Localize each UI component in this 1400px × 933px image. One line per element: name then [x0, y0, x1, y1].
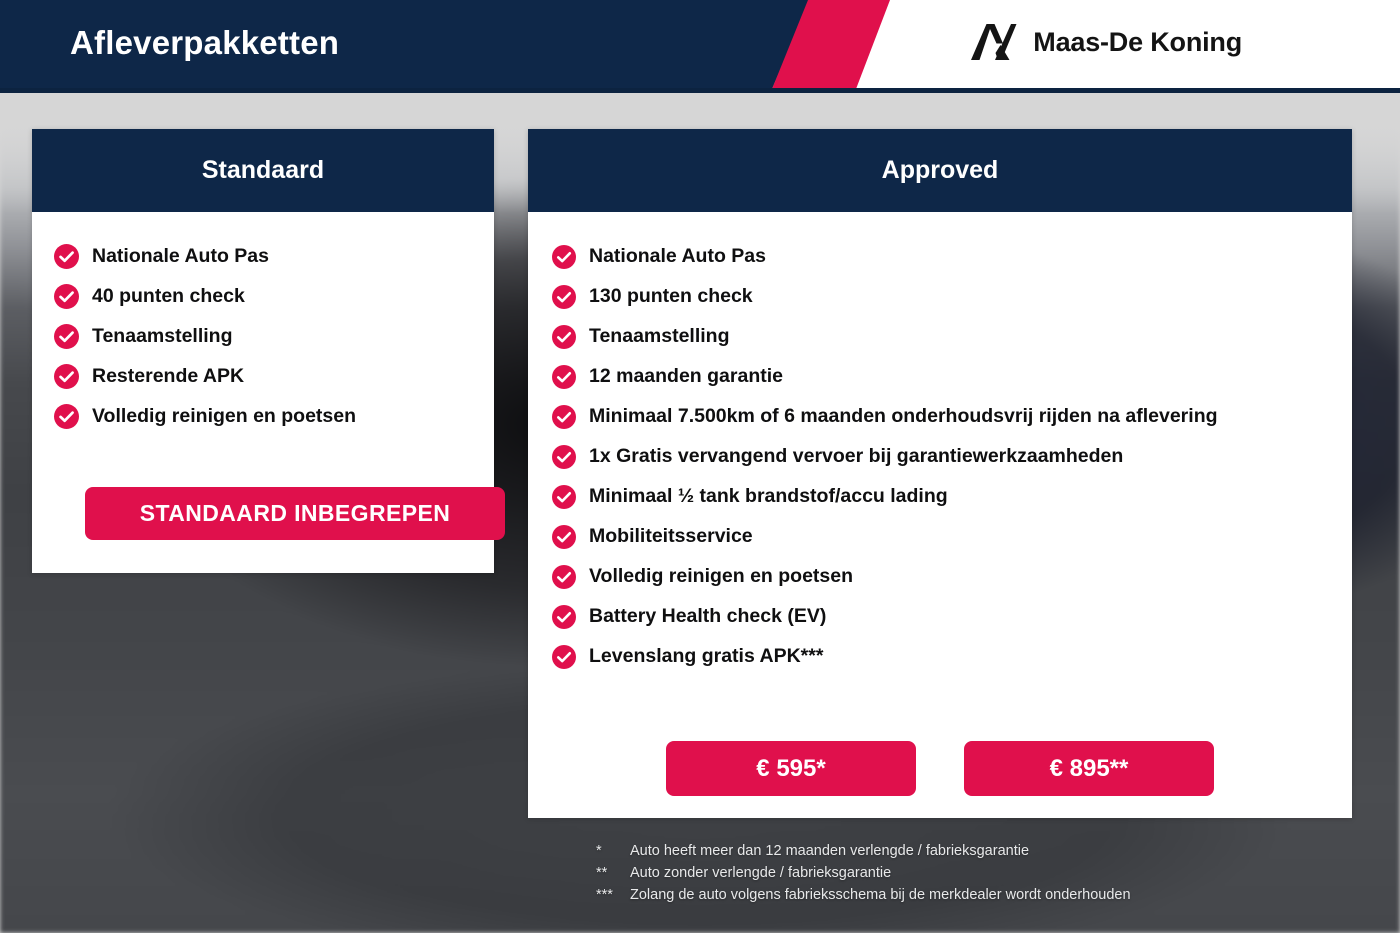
feature-label: Nationale Auto Pas [92, 242, 269, 270]
check-circle-icon [54, 284, 79, 309]
check-circle-icon [552, 445, 576, 469]
footnote-1: * Auto heeft meer dan 12 maanden verleng… [596, 840, 1356, 862]
check-circle-icon [552, 525, 576, 549]
package-card-approved: Approved Nationale Auto Pas 130 punten c… [528, 129, 1352, 818]
list-item: Levenslang gratis APK*** [552, 640, 1352, 673]
brand-logo: Maas-De Koning [970, 23, 1242, 61]
feature-label: Mobiliteitsservice [589, 520, 753, 553]
feature-label: Tenaamstelling [92, 322, 233, 350]
feature-label: Resterende APK [92, 362, 244, 390]
feature-label: Volledig reinigen en poetsen [92, 402, 356, 430]
feature-label: Nationale Auto Pas [589, 240, 766, 273]
footnote-marker: * [596, 840, 630, 862]
list-item: Tenaamstelling [54, 322, 494, 350]
check-circle-icon [552, 565, 576, 589]
header-underline [0, 88, 1400, 93]
footnotes-block: * Auto heeft meer dan 12 maanden verleng… [596, 840, 1356, 906]
feature-label: Levenslang gratis APK*** [589, 640, 823, 673]
check-circle-icon [552, 245, 576, 269]
feature-list-standaard: Nationale Auto Pas 40 punten check Tenaa… [54, 242, 494, 430]
standaard-included-button[interactable]: STANDAARD INBEGREPEN [85, 487, 505, 540]
price-button-595[interactable]: € 595* [666, 741, 916, 796]
list-item: Volledig reinigen en poetsen [552, 560, 1352, 593]
list-item: 40 punten check [54, 282, 494, 310]
price-button-895[interactable]: € 895** [964, 741, 1214, 796]
feature-label: 40 punten check [92, 282, 245, 310]
package-card-standaard: Standaard Nationale Auto Pas 40 punten c… [32, 129, 494, 573]
list-item: Volledig reinigen en poetsen [54, 402, 494, 430]
check-circle-icon [54, 364, 79, 389]
feature-label: 130 punten check [589, 280, 753, 313]
check-circle-icon [552, 605, 576, 629]
feature-label: 12 maanden garantie [589, 360, 783, 393]
card-title-approved: Approved [528, 129, 1352, 212]
check-circle-icon [54, 244, 79, 269]
list-item: Nationale Auto Pas [54, 242, 494, 270]
footnote-marker: ** [596, 862, 630, 884]
list-item: 130 punten check [552, 280, 1352, 313]
check-circle-icon [552, 405, 576, 429]
footnote-text: Auto zonder verlengde / fabrieksgarantie [630, 862, 1356, 884]
check-circle-icon [552, 285, 576, 309]
footnote-text: Auto heeft meer dan 12 maanden verlengde… [630, 840, 1356, 862]
check-circle-icon [552, 365, 576, 389]
poster-canvas: Afleverpakketten Maas-De Koning Standaar… [0, 0, 1400, 933]
price-button-row: € 595* € 895** [528, 741, 1352, 796]
check-circle-icon [54, 324, 79, 349]
maas-de-koning-m-logo-icon [970, 23, 1017, 61]
brand-name: Maas-De Koning [1033, 27, 1242, 58]
feature-list-approved: Nationale Auto Pas 130 punten check Tena… [552, 240, 1352, 673]
check-circle-icon [552, 485, 576, 509]
list-item: Resterende APK [54, 362, 494, 390]
footnote-3: *** Zolang de auto volgens fabrieksschem… [596, 884, 1356, 906]
card-body-standaard: Nationale Auto Pas 40 punten check Tenaa… [32, 242, 494, 430]
page-title: Afleverpakketten [70, 24, 339, 62]
feature-label: Minimaal 7.500km of 6 maanden onderhouds… [589, 400, 1218, 433]
list-item: Battery Health check (EV) [552, 600, 1352, 633]
card-body-approved: Nationale Auto Pas 130 punten check Tena… [528, 240, 1352, 673]
card-title-standaard: Standaard [32, 129, 494, 212]
list-item: Minimaal ½ tank brandstof/accu lading [552, 480, 1352, 513]
list-item: Minimaal 7.500km of 6 maanden onderhouds… [552, 400, 1352, 433]
footnote-2: ** Auto zonder verlengde / fabrieksgaran… [596, 862, 1356, 884]
list-item: 1x Gratis vervangend vervoer bij garanti… [552, 440, 1352, 473]
feature-label: Battery Health check (EV) [589, 600, 826, 633]
list-item: Nationale Auto Pas [552, 240, 1352, 273]
check-circle-icon [552, 325, 576, 349]
feature-label: Minimaal ½ tank brandstof/accu lading [589, 480, 948, 513]
list-item: Tenaamstelling [552, 320, 1352, 353]
check-circle-icon [54, 404, 79, 429]
feature-label: Tenaamstelling [589, 320, 730, 353]
feature-label: Volledig reinigen en poetsen [589, 560, 853, 593]
footnote-marker: *** [596, 884, 630, 906]
footnote-text: Zolang de auto volgens fabrieksschema bi… [630, 884, 1356, 906]
feature-label: 1x Gratis vervangend vervoer bij garanti… [589, 440, 1123, 473]
list-item: Mobiliteitsservice [552, 520, 1352, 553]
check-circle-icon [552, 645, 576, 669]
page-header: Afleverpakketten Maas-De Koning [0, 0, 1400, 93]
list-item: 12 maanden garantie [552, 360, 1352, 393]
